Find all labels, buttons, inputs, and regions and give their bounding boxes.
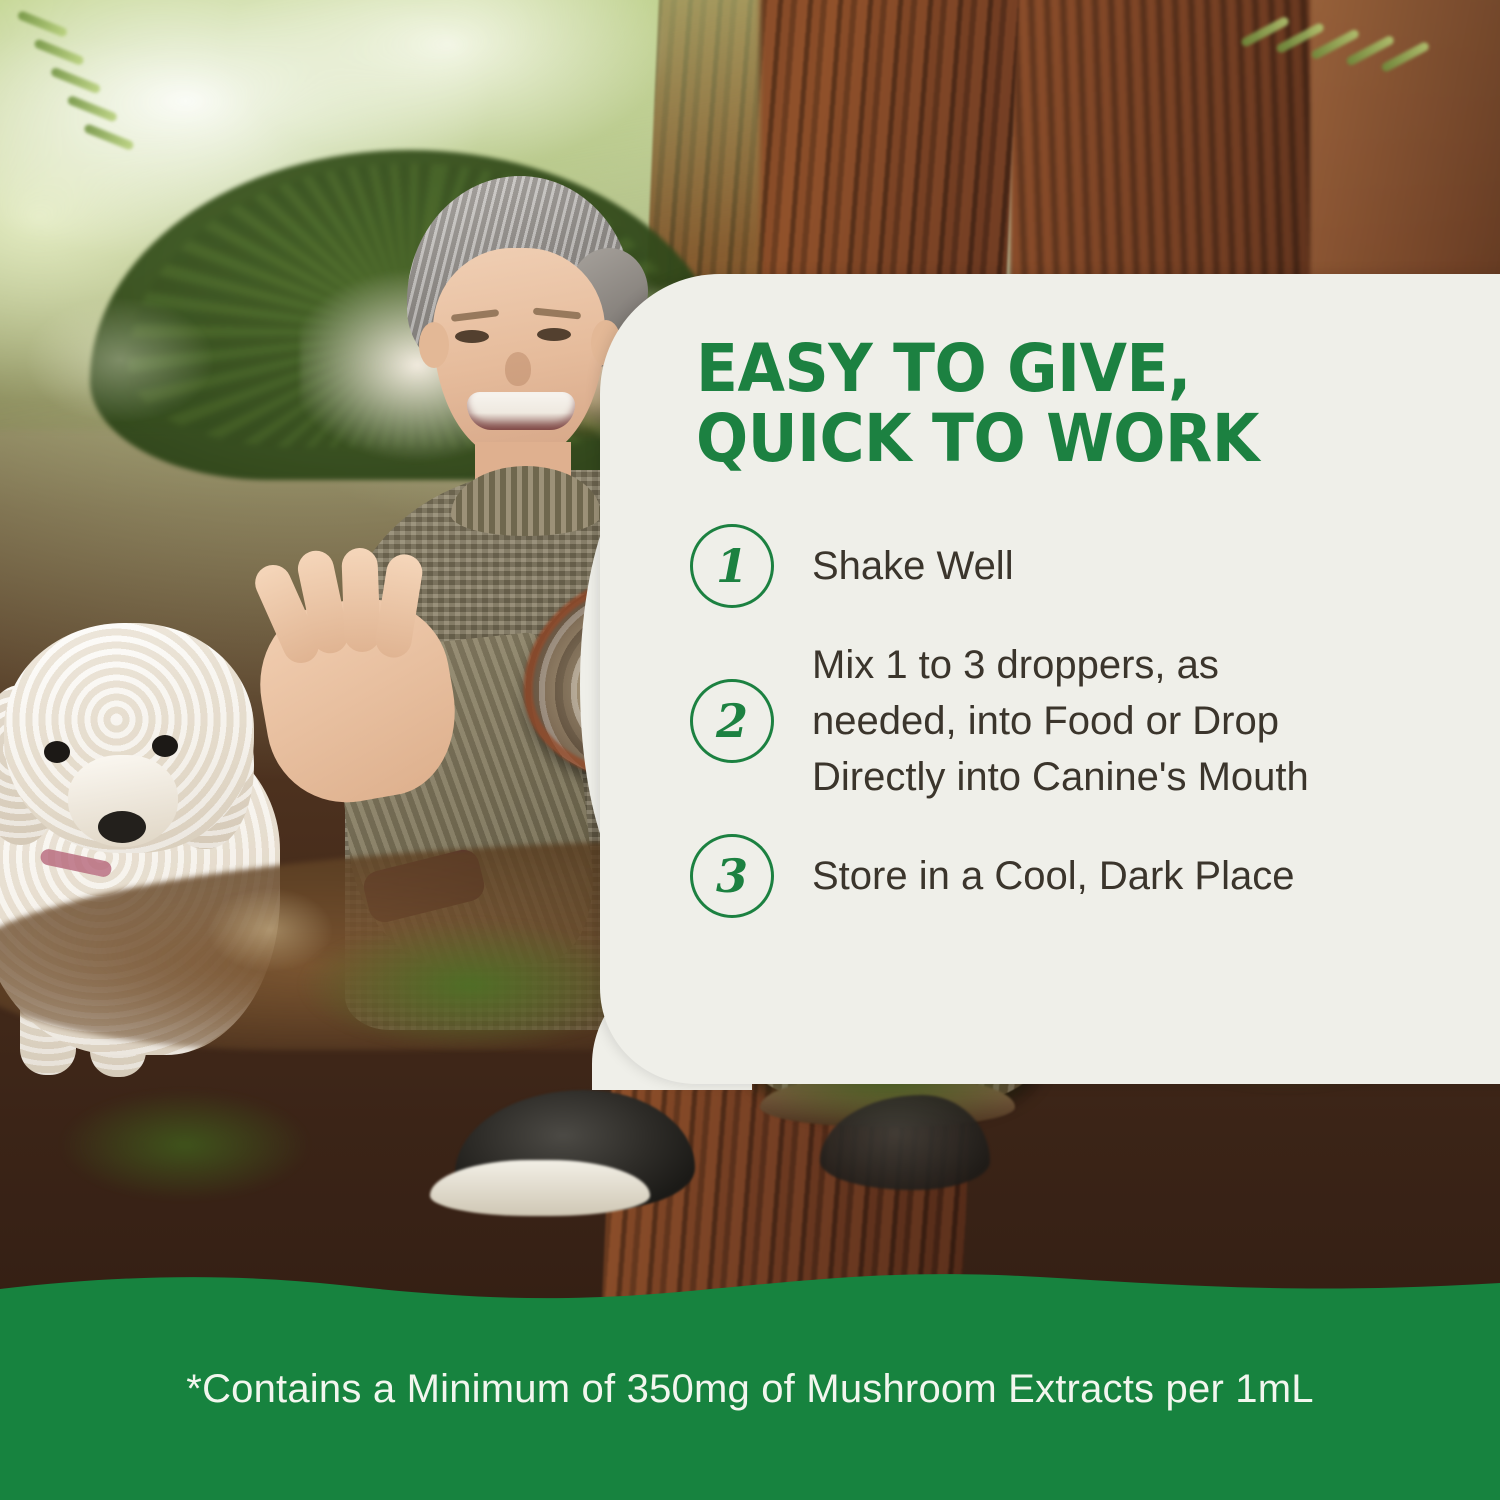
dog-eye: [44, 741, 70, 763]
footer-wave-edge: [0, 1255, 1500, 1315]
smiling-mouth: [467, 392, 575, 430]
instructions-card-content: EASY TO GIVE, QUICK TO WORK 1 Shake Well…: [600, 274, 1500, 1084]
eye: [455, 330, 489, 343]
moss-patch: [60, 1090, 310, 1200]
product-infographic: EASY TO GIVE, QUICK TO WORK 1 Shake Well…: [0, 0, 1500, 1500]
step-number-badge-3: 3: [690, 834, 774, 918]
ear: [419, 322, 449, 368]
nose: [505, 352, 531, 386]
footer-note: *Contains a Minimum of 350mg of Mushroom…: [0, 1367, 1500, 1412]
step-number-badge-2: 2: [690, 679, 774, 763]
step-text-3: Store in a Cool, Dark Place: [812, 848, 1294, 904]
dog-eye: [152, 735, 178, 757]
step-text-2: Mix 1 to 3 droppers, as needed, into Foo…: [812, 637, 1309, 805]
step-number-badge-1: 1: [690, 524, 774, 608]
footer-banner: *Contains a Minimum of 350mg of Mushroom…: [0, 1315, 1500, 1500]
eye: [537, 328, 571, 341]
steps-list: 1 Shake Well 2 Mix 1 to 3 droppers, as n…: [690, 524, 1480, 918]
moss-patch: [300, 920, 640, 1050]
page-title: EASY TO GIVE, QUICK TO WORK: [696, 334, 1403, 474]
list-item: 3 Store in a Cool, Dark Place: [690, 834, 1480, 918]
dog-nose: [98, 811, 146, 843]
shelf-fungus-white-rim: [430, 1160, 650, 1216]
list-item: 1 Shake Well: [690, 524, 1480, 608]
step-text-1: Shake Well: [812, 538, 1014, 594]
list-item: 2 Mix 1 to 3 droppers, as needed, into F…: [690, 626, 1480, 816]
